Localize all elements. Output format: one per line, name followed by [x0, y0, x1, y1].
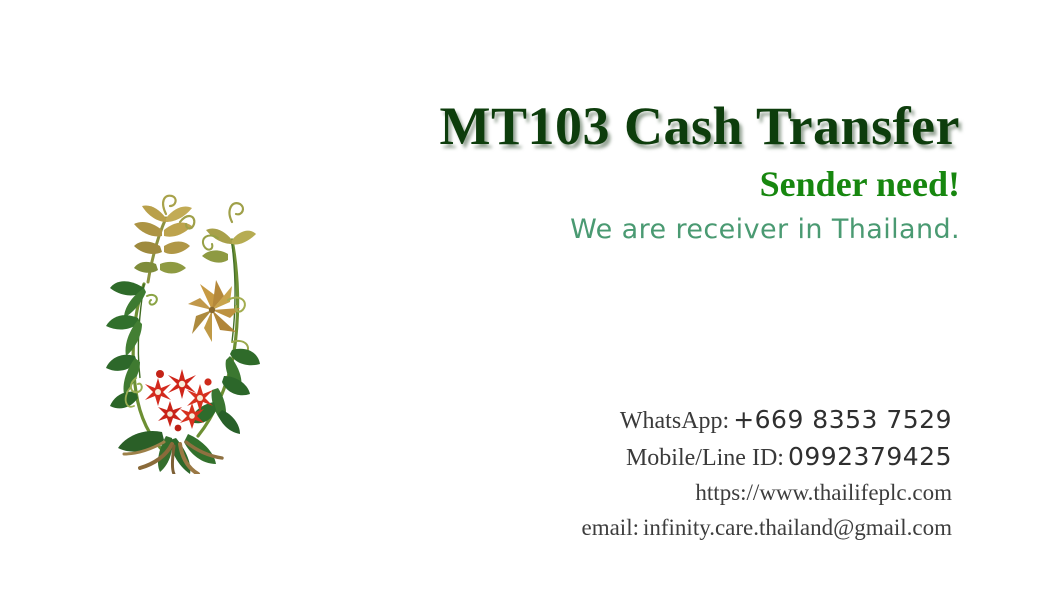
whatsapp-label: WhatsApp:: [620, 408, 729, 434]
red-flower-cluster: [145, 369, 213, 431]
website-url[interactable]: https://www.thailifeplc.com: [695, 480, 952, 505]
contact-line-mobile: Mobile/Line ID: 0992379425: [520, 440, 952, 477]
contact-line-whatsapp: WhatsApp: +669 8353 7529: [520, 403, 952, 440]
headline-block: MT103 Cash Transfer Sender need! We are …: [300, 96, 960, 248]
tagline: We are receiver in Thailand.: [300, 212, 960, 248]
vine-top-dried-leaves: [134, 196, 194, 282]
subtitle: Sender need!: [300, 162, 960, 206]
mobile-line-id-label: Mobile/Line ID:: [626, 445, 784, 471]
email-address[interactable]: infinity.care.thailand@gmail.com: [643, 515, 952, 540]
contact-block: WhatsApp: +669 8353 7529 Mobile/Line ID:…: [520, 403, 952, 547]
page-title: MT103 Cash Transfer: [300, 96, 960, 156]
contact-line-website: https://www.thailifeplc.com: [520, 477, 952, 512]
botanical-illustration: [100, 192, 260, 474]
contact-line-email: email: infinity.care.thailand@gmail.com: [520, 512, 952, 547]
mobile-line-id-number[interactable]: 0992379425: [788, 442, 952, 471]
basal-leaves-and-roots: [118, 431, 222, 474]
whatsapp-number[interactable]: +669 8353 7529: [733, 405, 952, 434]
dried-star-leaf: [188, 280, 240, 342]
vine-left-branch: [106, 281, 166, 454]
email-label: email:: [582, 515, 639, 540]
business-card-canvas: MT103 Cash Transfer Sender need! We are …: [0, 0, 1063, 600]
